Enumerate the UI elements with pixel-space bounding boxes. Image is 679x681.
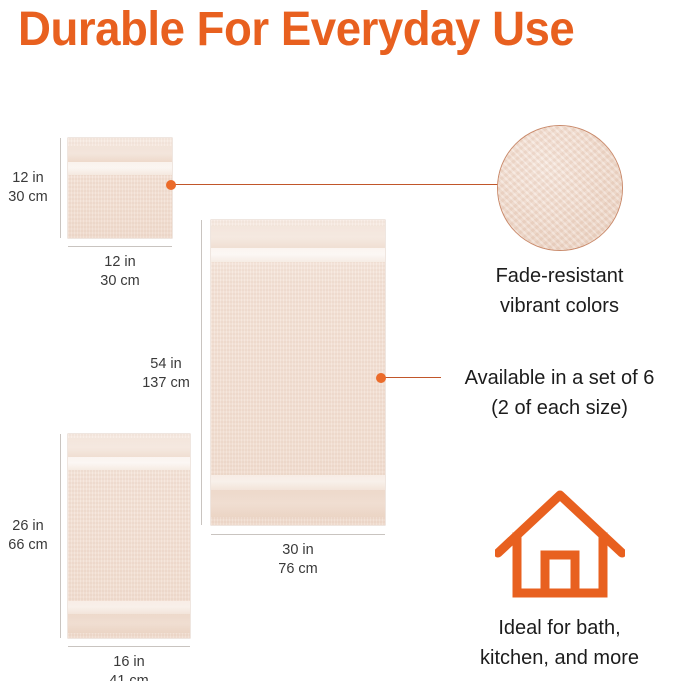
hand-towel-height-in: 26 in: [2, 517, 54, 536]
bath-towel-height-measure-line: [201, 220, 202, 525]
fade-resistant-callout-line: [171, 184, 506, 185]
hand-towel-height-label: 26 in 66 cm: [2, 517, 54, 555]
fabric-swatch-circle: [497, 125, 623, 251]
bath-towel-top-dobby-band: [211, 226, 385, 248]
washcloth-height-measure-line: [60, 138, 61, 238]
ideal-for-line-2: kitchen, and more: [440, 643, 679, 673]
house-icon: [495, 485, 625, 603]
hand-towel-height-cm: 66 cm: [2, 536, 54, 555]
bath-towel-image: [211, 220, 385, 525]
set-of-6-callout-line: [384, 377, 441, 378]
washcloth-image: [68, 138, 172, 238]
hand-towel-width-label: 16 in 41 cm: [79, 653, 179, 681]
bath-towel-width-in: 30 in: [248, 541, 348, 560]
fade-resistant-callout-text: Fade-resistant vibrant colors: [440, 261, 679, 321]
bath-towel-bottom-dobby-band: [211, 490, 385, 517]
hand-towel-top-dobby-band: [68, 438, 190, 457]
set-of-6-line-2: (2 of each size): [440, 393, 679, 423]
hand-towel-width-cm: 41 cm: [79, 672, 179, 681]
set-of-6-callout-dot: [376, 373, 386, 383]
bath-towel-width-label: 30 in 76 cm: [248, 541, 348, 579]
washcloth-height-in: 12 in: [2, 169, 54, 188]
bath-towel-height-cm: 137 cm: [139, 374, 193, 393]
ideal-for-callout-text: Ideal for bath, kitchen, and more: [440, 613, 679, 673]
fade-resistant-line-1: Fade-resistant: [440, 261, 679, 291]
bath-towel-width-measure-line: [211, 534, 385, 535]
washcloth-dobby-band: [68, 146, 172, 162]
washcloth-height-cm: 30 cm: [2, 188, 54, 207]
washcloth-width-in: 12 in: [70, 253, 170, 272]
hand-towel-width-measure-line: [68, 646, 190, 647]
fade-resistant-callout-dot: [166, 180, 176, 190]
page-title: Durable For Everyday Use: [18, 0, 645, 62]
washcloth-white-band: [68, 162, 172, 175]
bath-towel-top-white-band: [211, 248, 385, 262]
washcloth-width-cm: 30 cm: [70, 272, 170, 291]
hand-towel-bottom-dobby-band: [68, 614, 190, 633]
bath-towel-height-label: 54 in 137 cm: [139, 355, 193, 393]
hand-towel-image: [68, 434, 190, 638]
ideal-for-line-1: Ideal for bath,: [440, 613, 679, 643]
fabric-swatch-texture: [498, 126, 622, 250]
hand-towel-width-in: 16 in: [79, 653, 179, 672]
washcloth-width-measure-line: [68, 246, 172, 247]
set-of-6-line-1: Available in a set of 6: [440, 363, 679, 393]
washcloth-height-label: 12 in 30 cm: [2, 169, 54, 207]
washcloth-width-label: 12 in 30 cm: [70, 253, 170, 291]
set-of-6-callout-text: Available in a set of 6 (2 of each size): [440, 363, 679, 423]
bath-towel-bottom-white-band: [211, 475, 385, 490]
hand-towel-bottom-white-band: [68, 601, 190, 614]
bath-towel-height-in: 54 in: [139, 355, 193, 374]
bath-towel-width-cm: 76 cm: [248, 560, 348, 579]
fade-resistant-line-2: vibrant colors: [440, 291, 679, 321]
infographic-page: Durable For Everyday Use 12 in 30 cm 12 …: [0, 0, 679, 681]
hand-towel-height-measure-line: [60, 434, 61, 638]
hand-towel-top-white-band: [68, 457, 190, 470]
